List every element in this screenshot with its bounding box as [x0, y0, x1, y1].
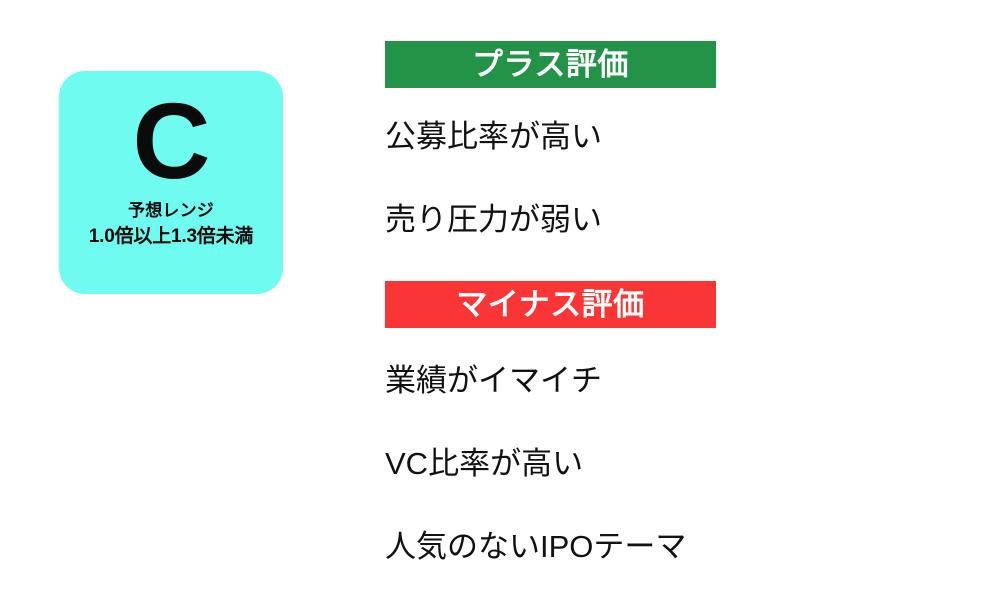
evaluation-sections: プラス評価 公募比率が高い 売り圧力が弱い マイナス評価 業績がイマイチ VC比…: [385, 41, 985, 562]
list-item: 業績がイマイチ: [385, 365, 985, 396]
banner-negative-evaluation: マイナス評価: [385, 281, 716, 328]
negative-item-list: 業績がイマイチ VC比率が高い 人気のないIPOテーマ: [385, 365, 985, 562]
section-negative-evaluation: マイナス評価 業績がイマイチ VC比率が高い 人気のないIPOテーマ: [385, 281, 985, 562]
banner-negative-label: マイナス評価: [456, 289, 644, 320]
banner-positive-evaluation: プラス評価: [385, 41, 716, 88]
positive-item-list: 公募比率が高い 売り圧力が弱い: [385, 121, 985, 235]
list-item: VC比率が高い: [385, 448, 985, 479]
section-positive-evaluation: プラス評価 公募比率が高い 売り圧力が弱い: [385, 41, 985, 235]
list-item: 人気のないIPOテーマ: [385, 531, 985, 562]
ipo-rating-summary: C 予想レンジ 1.0倍以上1.3倍未満 プラス評価 公募比率が高い 売り圧力が…: [0, 0, 1000, 600]
list-item: 売り圧力が弱い: [385, 204, 985, 235]
banner-positive-label: プラス評価: [472, 49, 629, 80]
grade-caption: 予想レンジ: [128, 200, 214, 223]
grade-range-value: 1.0倍以上1.3倍未満: [89, 225, 253, 250]
grade-letter: C: [133, 85, 210, 197]
grade-card: C 予想レンジ 1.0倍以上1.3倍未満: [59, 71, 283, 294]
list-item: 公募比率が高い: [385, 121, 985, 152]
